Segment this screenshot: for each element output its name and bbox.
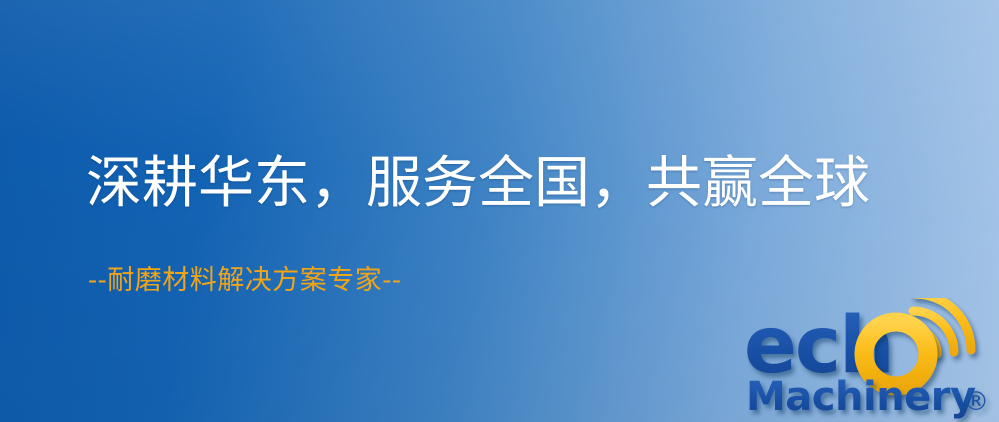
registered-trademark-icon: ® [963,387,989,417]
tagline: --耐磨材料解决方案专家-- [88,266,402,296]
page-title: 深耕华东，服务全国，共赢全球 [86,155,870,214]
promo-banner: 深耕华东，服务全国，共赢全球 --耐磨材料解决方案专家-- [0,0,999,422]
logo-wordmark-machinery: Machinery [746,374,976,420]
echo-machinery-logo[interactable]: ech Machinery ® [744,298,999,422]
